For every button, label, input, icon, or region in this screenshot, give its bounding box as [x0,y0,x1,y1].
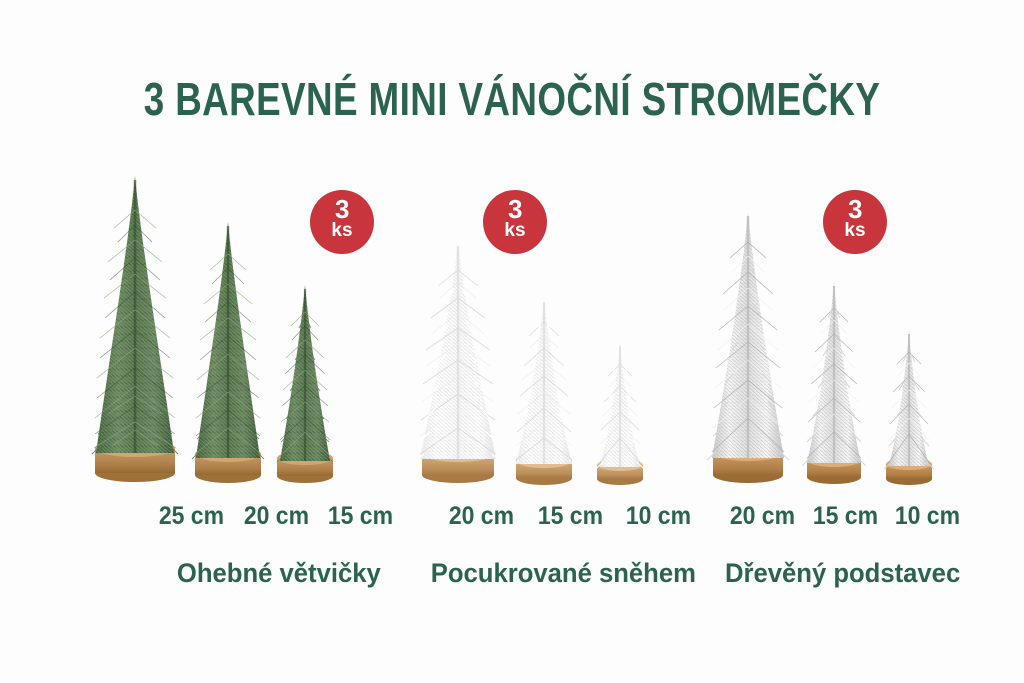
tree-item [707,212,789,483]
size-label-row: 20 cm 15 cm 10 cm [688,502,984,531]
tree-item [92,176,178,482]
page-title: 3 BAREVNÉ MINI VÁNOČNÍ STROMEČKY [102,72,921,126]
tree-item [802,282,866,484]
tree-item [596,342,644,485]
badge-unit: ks [310,221,374,241]
tree-group-white: 3 ks 20 cm 15 cm 10 cm Pocukrované sněhe… [392,170,684,610]
size-label: 20 cm [448,502,513,531]
quantity-badge: 3 ks [310,190,374,254]
size-label: 25 cm [158,502,223,531]
group-caption: Pocukrované sněhem [400,558,702,589]
size-label: 20 cm [243,502,308,531]
badge-unit: ks [483,221,547,241]
tree-item [511,298,577,485]
badge-count: 3 [823,197,887,221]
tree-item [884,330,934,485]
size-label: 10 cm [626,502,691,531]
size-label: 20 cm [729,502,794,531]
quantity-badge: 3 ks [483,190,547,254]
badge-unit: ks [823,221,887,241]
size-label: 10 cm [895,502,960,531]
tree-item [192,222,264,483]
size-label: 15 cm [328,502,393,531]
badge-count: 3 [483,197,547,221]
group-caption: Dřevěný podstavec [695,558,974,589]
tree-groups-row: 3 ks 25 cm 20 cm 15 cm Ohebné větvičky [0,170,1024,610]
group-caption: Ohebné větvičky [96,558,417,589]
tree-group-silver: 3 ks 20 cm 15 cm 10 cm Dřevěný podstavec [688,170,966,610]
tree-group-green: 3 ks 25 cm 20 cm 15 cm Ohebné větvičky [88,170,380,610]
size-label-row: 25 cm 20 cm 15 cm [88,502,422,531]
badge-count: 3 [310,197,374,221]
tree-item [277,285,333,483]
size-label-row: 20 cm 15 cm 10 cm [392,502,716,531]
tree-item [415,242,501,483]
size-label: 15 cm [812,502,877,531]
size-label: 15 cm [537,502,602,531]
quantity-badge: 3 ks [823,190,887,254]
product-infographic-poster: 3 BAREVNÉ MINI VÁNOČNÍ STROMEČKY [0,0,1024,683]
